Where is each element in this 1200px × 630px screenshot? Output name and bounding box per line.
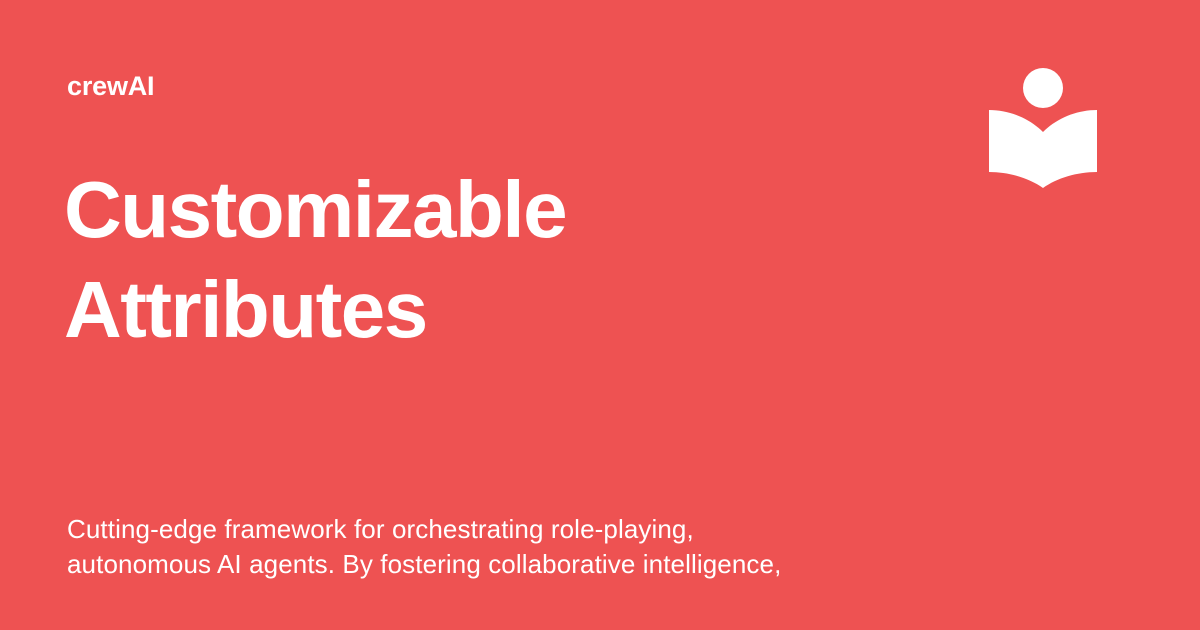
book-reader-icon — [983, 60, 1103, 196]
book-left-page-shape — [989, 110, 1043, 188]
og-preview-card: crewAI Customizable Attributes Cutting-e… — [0, 0, 1200, 630]
page-title-line-2: Attributes — [64, 260, 824, 360]
page-title: Customizable Attributes — [64, 160, 824, 360]
page-title-line-1: Customizable — [64, 160, 824, 260]
book-right-page-shape — [1043, 110, 1097, 188]
brand-name: crewAI — [67, 71, 154, 102]
reader-head-shape — [1023, 68, 1063, 108]
page-description-line-1: Cutting-edge framework for orchestrating… — [67, 512, 947, 547]
page-description-line-2: autonomous AI agents. By fostering colla… — [67, 547, 947, 582]
page-description: Cutting-edge framework for orchestrating… — [67, 512, 947, 582]
